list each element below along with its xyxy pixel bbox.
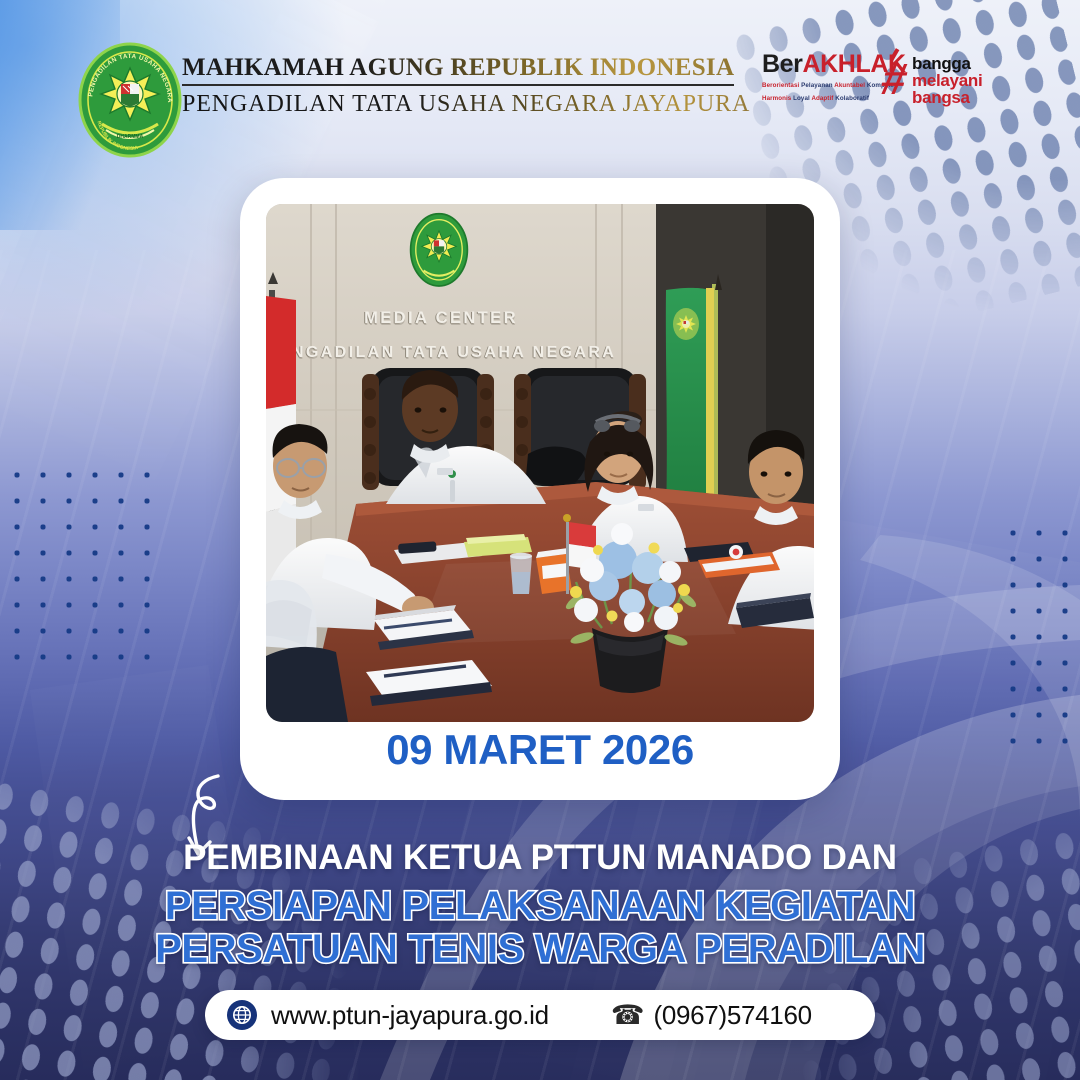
meeting-photo-illustration: MEDIA CENTER MEDIA CENTER MEDIA CENTER P… — [266, 204, 814, 722]
tagline-word-adaptif: Adaptif — [811, 95, 833, 102]
website-group[interactable]: www.ptun-jayapura.go.id — [227, 1000, 549, 1031]
poster-canvas: PENGADILAN TATA USAHA NEGARA JAYAPURA RE… — [0, 0, 1080, 1080]
tagline-word-pelayanan: Pelayanan — [801, 82, 833, 89]
event-title-line2: PERSIAPAN PELAKSANAAN KEGIATAN — [0, 884, 1080, 929]
bangga-line-1: bangga — [912, 55, 982, 72]
website-text: www.ptun-jayapura.go.id — [271, 1000, 549, 1031]
event-title-line3: PERSATUAN TENIS WARGA PERADILAN — [0, 927, 1080, 972]
telephone-icon: ☎ — [611, 1002, 645, 1029]
tagline-word-harmonis: Harmonis — [762, 95, 791, 102]
court-name-title: PENGADILAN TATA USAHA NEGARA JAYAPURA — [182, 89, 750, 120]
tagline-word-kolaboratif: Kolaboratif — [835, 95, 869, 102]
phone-text: (0967)574160 — [653, 1000, 811, 1031]
svg-text:MEDIA CENTER: MEDIA CENTER — [364, 309, 518, 327]
berakhlak-logo: BerAKHLAK Berorientasi Pelayanan Akuntab… — [762, 52, 1002, 114]
court-emblem-icon: PENGADILAN TATA USAHA NEGARA JAYAPURA RE… — [76, 42, 184, 158]
event-titles: PEMBINAAN KETUA PTTUN MANADO DAN PERSIAP… — [0, 838, 1080, 972]
dot-grid-left — [4, 462, 164, 680]
phone-group[interactable]: ☎ (0967)574160 — [611, 1000, 812, 1031]
globe-icon — [227, 1000, 257, 1030]
bangga-line-3: bangsa — [912, 89, 982, 106]
contact-bar: www.ptun-jayapura.go.id ☎ (0967)574160 — [205, 990, 875, 1040]
svg-text:PENGADILAN TATA USAHA NEGARA: PENGADILAN TATA USAHA NEGARA — [266, 344, 616, 361]
berakhlak-ber: Ber — [762, 50, 803, 78]
tagline-word-berorientasi: Berorientasi — [762, 82, 799, 89]
tagline-word-loyal: Loyal — [793, 95, 810, 102]
header-titles: MAHKAMAH AGUNG REPUBLIK INDONESIA PENGAD… — [182, 54, 750, 120]
dot-grid-right — [1000, 520, 1080, 756]
photo-card: MEDIA CENTER MEDIA CENTER MEDIA CENTER P… — [240, 178, 840, 800]
svg-text:DHARMMA: DHARMMA — [117, 134, 144, 140]
event-date: 09 MARET 2026 — [240, 726, 840, 774]
tagline-word-akuntabel: Akuntabel — [834, 82, 865, 89]
bangga-lines: bangga melayani bangsa — [912, 55, 982, 106]
institution-title: MAHKAMAH AGUNG REPUBLIK INDONESIA — [182, 54, 734, 86]
bangga-line-2: melayani — [912, 72, 982, 89]
event-photo: MEDIA CENTER MEDIA CENTER MEDIA CENTER P… — [266, 204, 814, 722]
event-title-line1: PEMBINAAN KETUA PTTUN MANADO DAN — [0, 838, 1080, 879]
header: PENGADILAN TATA USAHA NEGARA JAYAPURA RE… — [0, 0, 1080, 168]
